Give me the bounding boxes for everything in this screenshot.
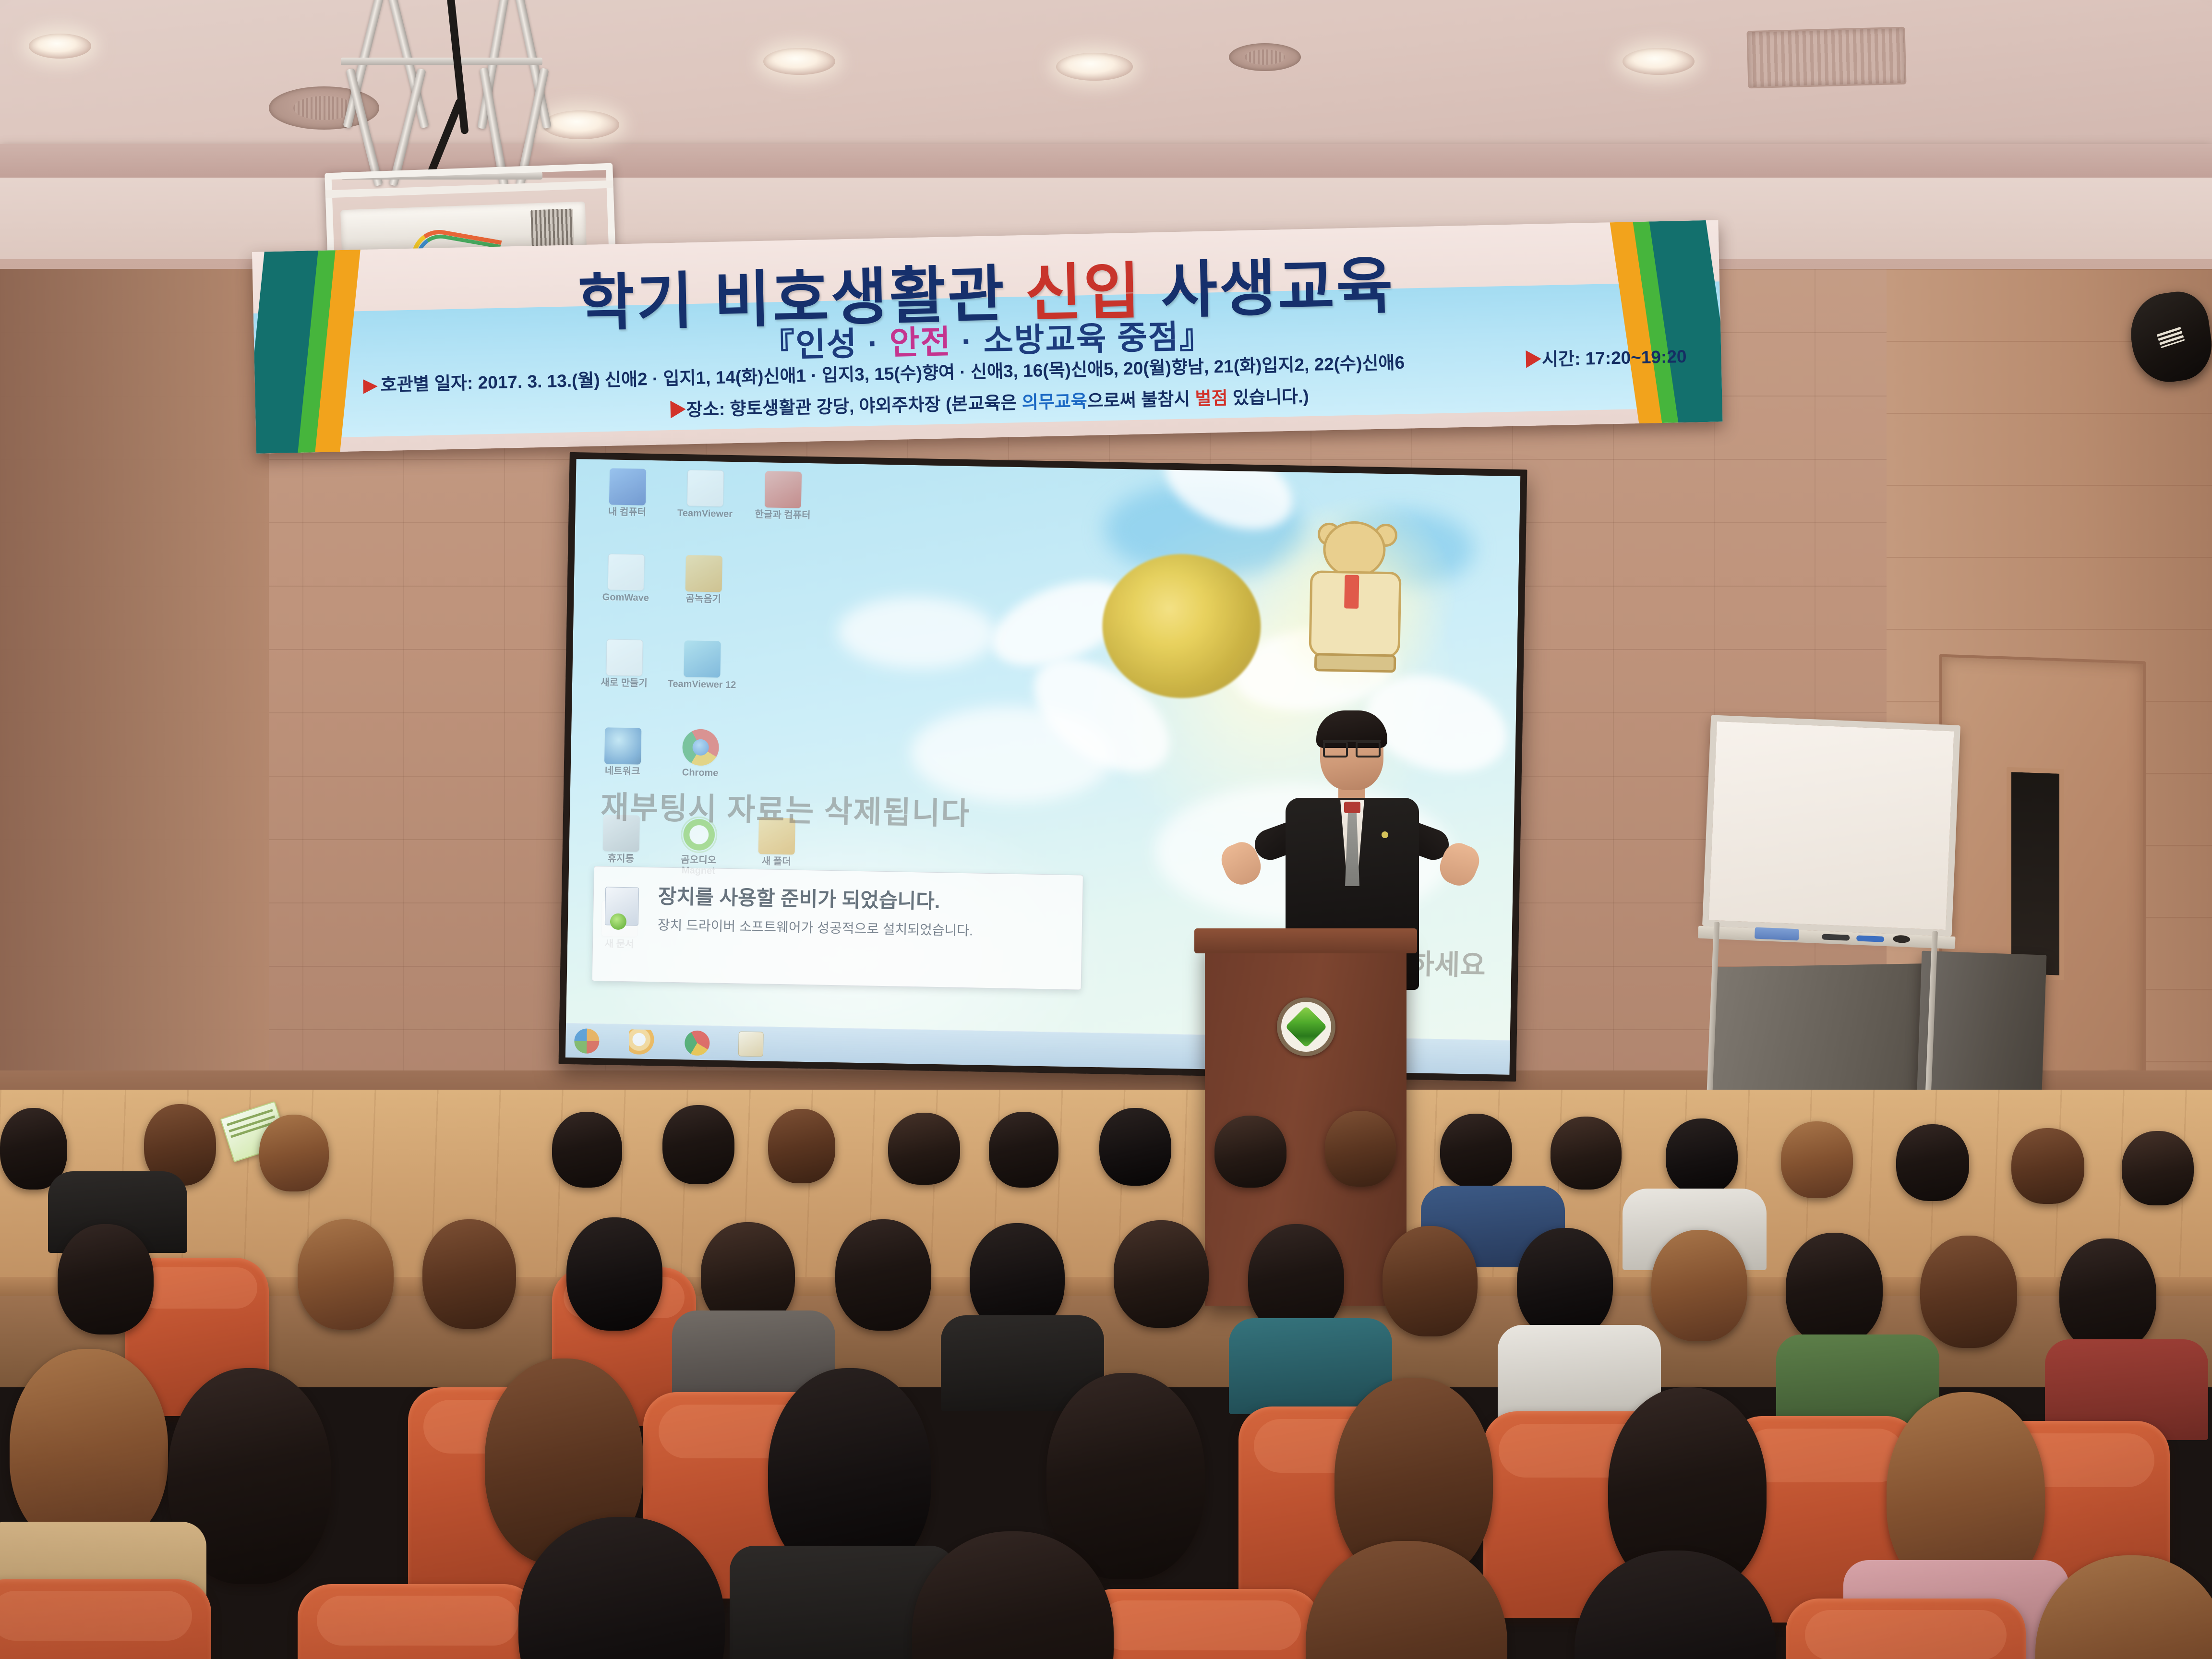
audience-head <box>566 1217 662 1331</box>
schedule-marker-icon: ▶ <box>363 375 377 395</box>
place-value3: 있습니다.) <box>1227 386 1309 408</box>
event-banner: 학기 비호생활관 신입 사생교육 『인성 · 안전 · 소방교육 중점』 ▶호관… <box>252 220 1722 454</box>
schedule-label: 호관별 일자: <box>380 373 478 395</box>
subtitle-seg1: 인성 · <box>795 325 890 363</box>
audience-shoulders <box>1498 1325 1661 1421</box>
audience-head <box>58 1224 154 1334</box>
place-value2: 으로써 불참시 <box>1087 389 1195 411</box>
university-crest-icon <box>1277 998 1335 1056</box>
ceiling-vent-2 <box>1229 43 1301 71</box>
audience-head <box>2059 1238 2156 1352</box>
time-marker-icon: ▶ <box>1524 349 1542 370</box>
audience-head <box>259 1115 329 1191</box>
downlight-1 <box>29 34 91 59</box>
audience-head <box>1786 1233 1883 1345</box>
projector-cable-2 <box>427 97 465 176</box>
podium-top <box>1194 928 1417 953</box>
bracket-close: 』 <box>1179 318 1214 355</box>
audience-head <box>10 1349 168 1551</box>
whiteboard-stand <box>1701 922 1944 1118</box>
place-label: 장소: <box>686 399 730 420</box>
downlight-2 <box>763 48 835 75</box>
auditorium-scene: 학기 비호생활관 신입 사생교육 『인성 · 안전 · 소방교육 중점』 ▶호관… <box>0 0 2212 1659</box>
auditorium-seat[interactable] <box>1080 1589 1320 1659</box>
ac-grille <box>1746 27 1906 89</box>
audience-head <box>2122 1131 2194 1205</box>
whiteboard-surface[interactable] <box>1702 715 1960 936</box>
audience-head <box>989 1112 1058 1188</box>
audience-head <box>1325 1111 1396 1187</box>
wall-left <box>0 269 269 1114</box>
audience-head <box>662 1105 734 1184</box>
audience-head <box>1551 1117 1622 1190</box>
downlight-3 <box>1056 53 1133 81</box>
glasses-icon <box>1323 740 1381 753</box>
audience-head <box>1517 1228 1613 1338</box>
place-marker-icon: ▶ <box>668 400 686 420</box>
audience-head <box>1440 1114 1512 1188</box>
auditorium-seat[interactable] <box>0 1579 211 1659</box>
audience-head <box>1896 1124 1969 1201</box>
audience-head <box>1781 1121 1853 1198</box>
audience-head <box>1114 1220 1209 1328</box>
audience-head <box>1214 1116 1286 1188</box>
time-value: 17:20~19:20 <box>1585 347 1687 369</box>
audience-area <box>0 1099 2212 1659</box>
penalty-warning: 벌점 <box>1195 388 1228 409</box>
place-emphasis: 의무교육 <box>1022 391 1087 412</box>
whiteboard[interactable] <box>1702 715 1960 936</box>
door-vision-panel <box>2007 767 2064 980</box>
bracket-open: 『 <box>761 327 796 364</box>
audience-head <box>835 1219 931 1331</box>
audience-head <box>2011 1128 2084 1204</box>
presenter-tie-knot <box>1344 802 1360 813</box>
audience-head <box>1382 1226 1478 1336</box>
audience-head <box>298 1219 394 1330</box>
audience-head <box>1666 1118 1738 1194</box>
auditorium-seat[interactable] <box>1786 1599 2026 1659</box>
downlight-4 <box>1623 48 1695 75</box>
audience-head <box>1099 1108 1171 1186</box>
audience-head <box>1651 1230 1747 1341</box>
time-label: 시간: <box>1542 349 1586 369</box>
lapel-pin <box>1382 831 1388 838</box>
audience-head <box>768 1109 835 1183</box>
banner-time-line: ▶시간: 17:20~19:20 <box>1524 342 1687 371</box>
subtitle-highlight: 안전 <box>889 324 952 361</box>
audience-head <box>888 1113 960 1185</box>
projector-lift <box>331 0 600 283</box>
audience-head <box>422 1219 516 1329</box>
auditorium-seat[interactable] <box>298 1584 538 1659</box>
audience-head <box>552 1112 622 1188</box>
audience-head <box>1920 1236 2017 1348</box>
